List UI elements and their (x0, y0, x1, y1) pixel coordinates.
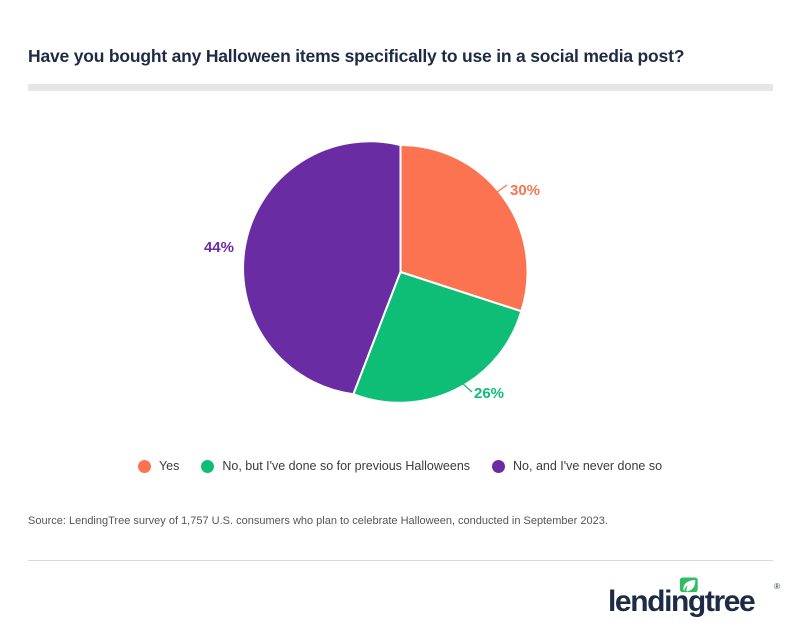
logo-wordmark: lendingtree (608, 585, 755, 618)
pie-label-yes: 30% (510, 182, 540, 199)
legend-swatch-icon (492, 460, 505, 473)
pie-chart-svg: 30% 26% 44% (0, 100, 800, 430)
page-title: Have you bought any Halloween items spec… (28, 44, 772, 68)
infographic-card: Have you bought any Halloween items spec… (0, 0, 800, 631)
pie-label-no-previous: 26% (474, 385, 504, 402)
source-note: Source: LendingTree survey of 1,757 U.S.… (28, 513, 608, 529)
registered-mark: ® (774, 582, 780, 591)
legend-item-no-previous[interactable]: No, but I've done so for previous Hallow… (201, 458, 470, 474)
leader-line-yes (497, 185, 507, 192)
legend-label: No, but I've done so for previous Hallow… (222, 458, 470, 474)
legend-swatch-icon (201, 460, 214, 473)
legend-label: Yes (159, 458, 179, 474)
title-divider (28, 84, 773, 91)
footer-divider (28, 560, 773, 561)
lendingtree-logo[interactable]: lendingtree (606, 576, 774, 618)
legend: Yes No, but I've done so for previous Ha… (0, 458, 800, 474)
legend-item-yes[interactable]: Yes (138, 458, 179, 474)
pie-label-no-never: 44% (204, 239, 234, 256)
legend-label: No, and I've never done so (513, 458, 662, 474)
legend-item-no-never[interactable]: No, and I've never done so (492, 458, 662, 474)
legend-swatch-icon (138, 460, 151, 473)
pie-chart: 30% 26% 44% (0, 100, 800, 430)
